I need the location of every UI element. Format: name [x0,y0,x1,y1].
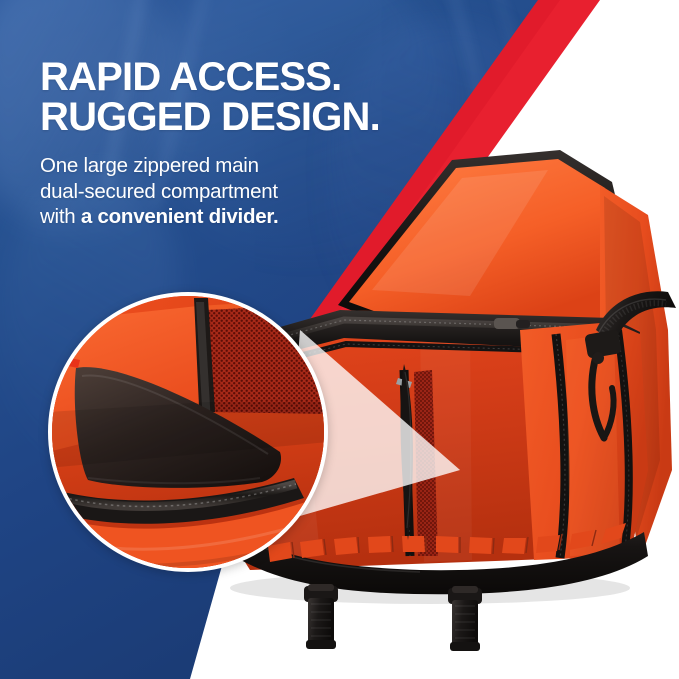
product-marketing-banner: RAPID ACCESS. RUGGED DESIGN. One large z… [0,0,679,679]
subtitle-line-1: One large zippered main [40,154,259,177]
magnified-divider-detail [48,292,328,572]
magnifier-contents [48,292,328,572]
subtitle: One large zippered main dual-secured com… [40,153,420,229]
page-title: RAPID ACCESS. RUGGED DESIGN. [40,58,420,137]
subtitle-line-3-bold: a convenient divider. [81,205,279,228]
headline-line-2: RUGGED DESIGN. [40,98,420,138]
headline-line-1: RAPID ACCESS. [40,55,342,99]
subtitle-line-2: dual-secured compartment [40,180,278,203]
bottom-strap-buckle-right [448,586,482,651]
bottom-strap-buckle-left [304,584,338,649]
subtitle-line-3-plain: with [40,205,81,228]
copy-block: RAPID ACCESS. RUGGED DESIGN. One large z… [40,58,420,229]
